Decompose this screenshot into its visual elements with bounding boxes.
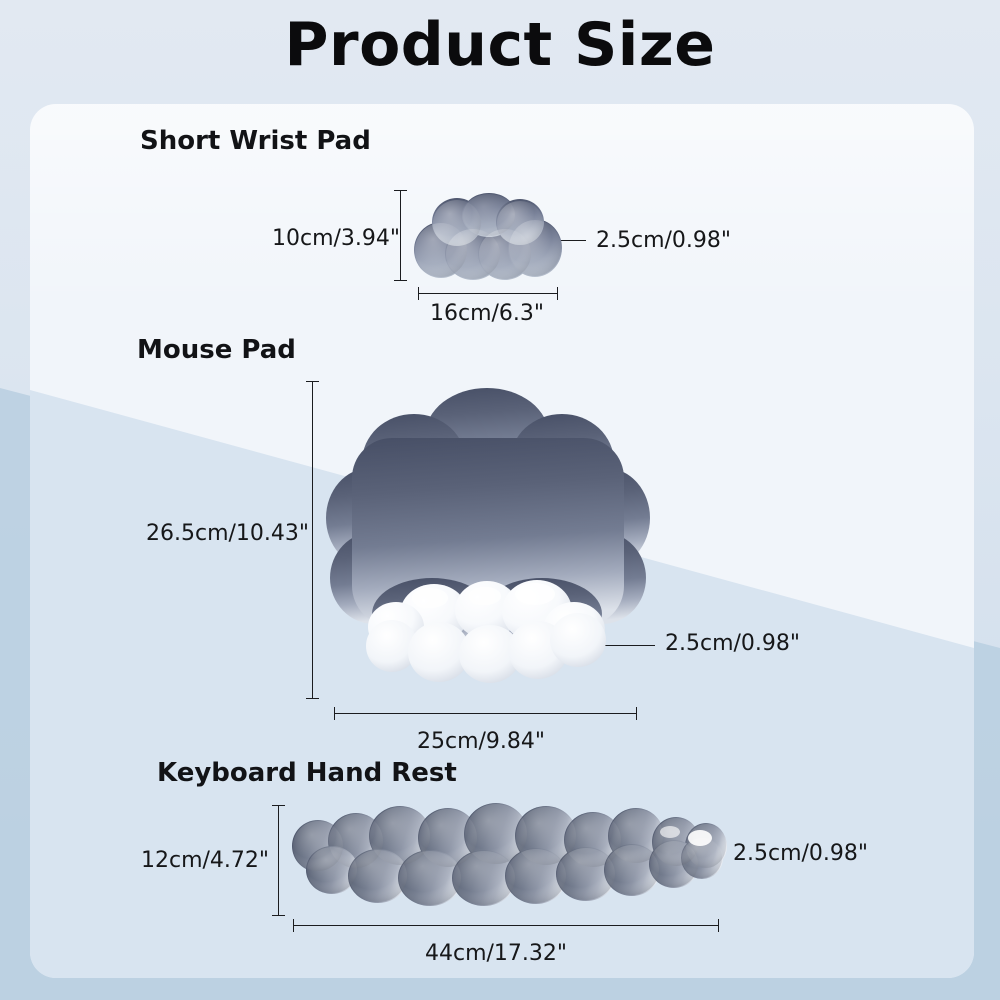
dim-cap-right-p2 [636,707,637,720]
product-image-mouse-pad [322,378,652,698]
dim-cap-right-p3 [718,919,719,932]
product-image-short-wrist-pad [413,192,563,280]
section-label-mouse-pad: Mouse Pad [137,335,296,365]
dim-line-width-p1 [418,293,558,294]
dim-thickness-label-p2: 2.5cm/0.98" [665,631,800,656]
dim-width-label-p3: 44cm/17.32" [425,941,567,966]
dim-line-height-p2 [312,381,313,698]
dim-cap-bottom-p3 [272,915,285,916]
section-label-short-wrist-pad: Short Wrist Pad [140,126,371,156]
dim-height-label-p1: 10cm/3.94" [272,226,400,251]
product-image-keyboard-hand-rest [288,798,728,908]
page-title: Product Size [0,14,1000,77]
dim-line-height-p1 [400,190,401,280]
dim-width-label-p1: 16cm/6.3" [430,301,544,326]
dim-thickness-label-p1: 2.5cm/0.98" [596,228,731,253]
dim-line-height-p3 [278,805,279,915]
dim-cap-right-p1 [557,287,558,300]
dim-thickness-label-p3: 2.5cm/0.98" [733,841,868,866]
dim-width-label-p2: 25cm/9.84" [417,729,545,754]
dim-line-width-p2 [334,713,636,714]
dim-line-width-p3 [293,925,718,926]
dim-height-label-p3: 12cm/4.72" [141,848,269,873]
dim-cap-bottom-p1 [394,280,407,281]
section-label-keyboard-hand-rest: Keyboard Hand Rest [157,758,457,788]
dim-cap-bottom-p2 [306,698,319,699]
dim-height-label-p2: 26.5cm/10.43" [146,521,309,546]
infographic-root: Product Size Short Wrist Pad 10cm/3.94" … [0,0,1000,1000]
